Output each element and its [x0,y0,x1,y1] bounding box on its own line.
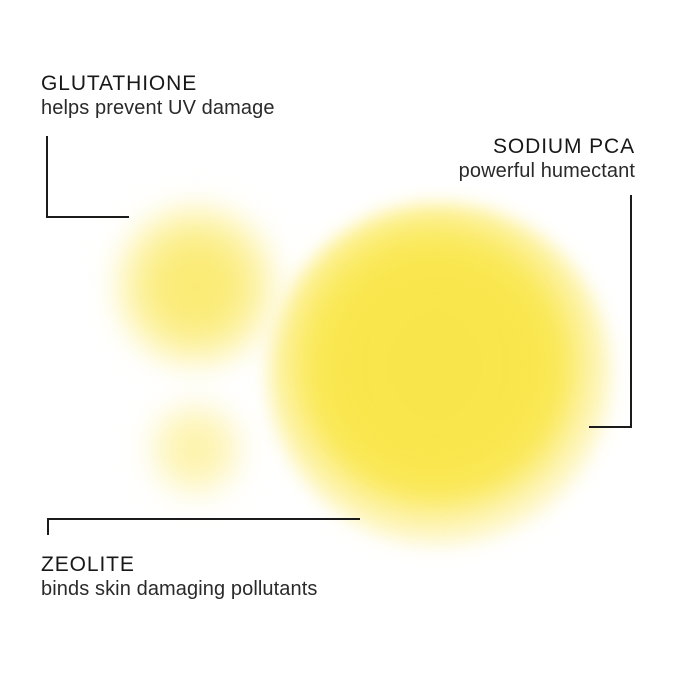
callout-zeolite-subtitle: binds skin damaging pollutants [41,577,318,601]
leader-line-zeolite-horizontal [47,518,360,520]
blob-sodium-pca-core [318,253,562,497]
callout-glutathione: GLUTATHIONE helps prevent UV damage [41,71,275,120]
callout-sodium-pca-title: SODIUM PCA [459,134,635,159]
callout-zeolite: ZEOLITE binds skin damaging pollutants [41,552,318,601]
blob-glutathione [110,200,282,372]
callout-glutathione-title: GLUTATHIONE [41,71,275,96]
leader-line-glutathione-vertical [46,136,48,218]
callout-sodium-pca: SODIUM PCA powerful humectant [459,134,635,183]
callout-sodium-pca-subtitle: powerful humectant [459,159,635,183]
blob-sodium-pca [268,203,612,547]
blob-zeolite [140,393,252,505]
ingredient-diagram: GLUTATHIONE helps prevent UV damage SODI… [0,0,679,679]
callout-zeolite-title: ZEOLITE [41,552,318,577]
callout-glutathione-subtitle: helps prevent UV damage [41,96,275,120]
leader-line-sodium-pca-vertical [630,195,632,428]
leader-line-glutathione-horizontal [46,216,129,218]
leader-line-sodium-pca-horizontal [589,426,632,428]
leader-line-zeolite-vertical [47,518,49,535]
